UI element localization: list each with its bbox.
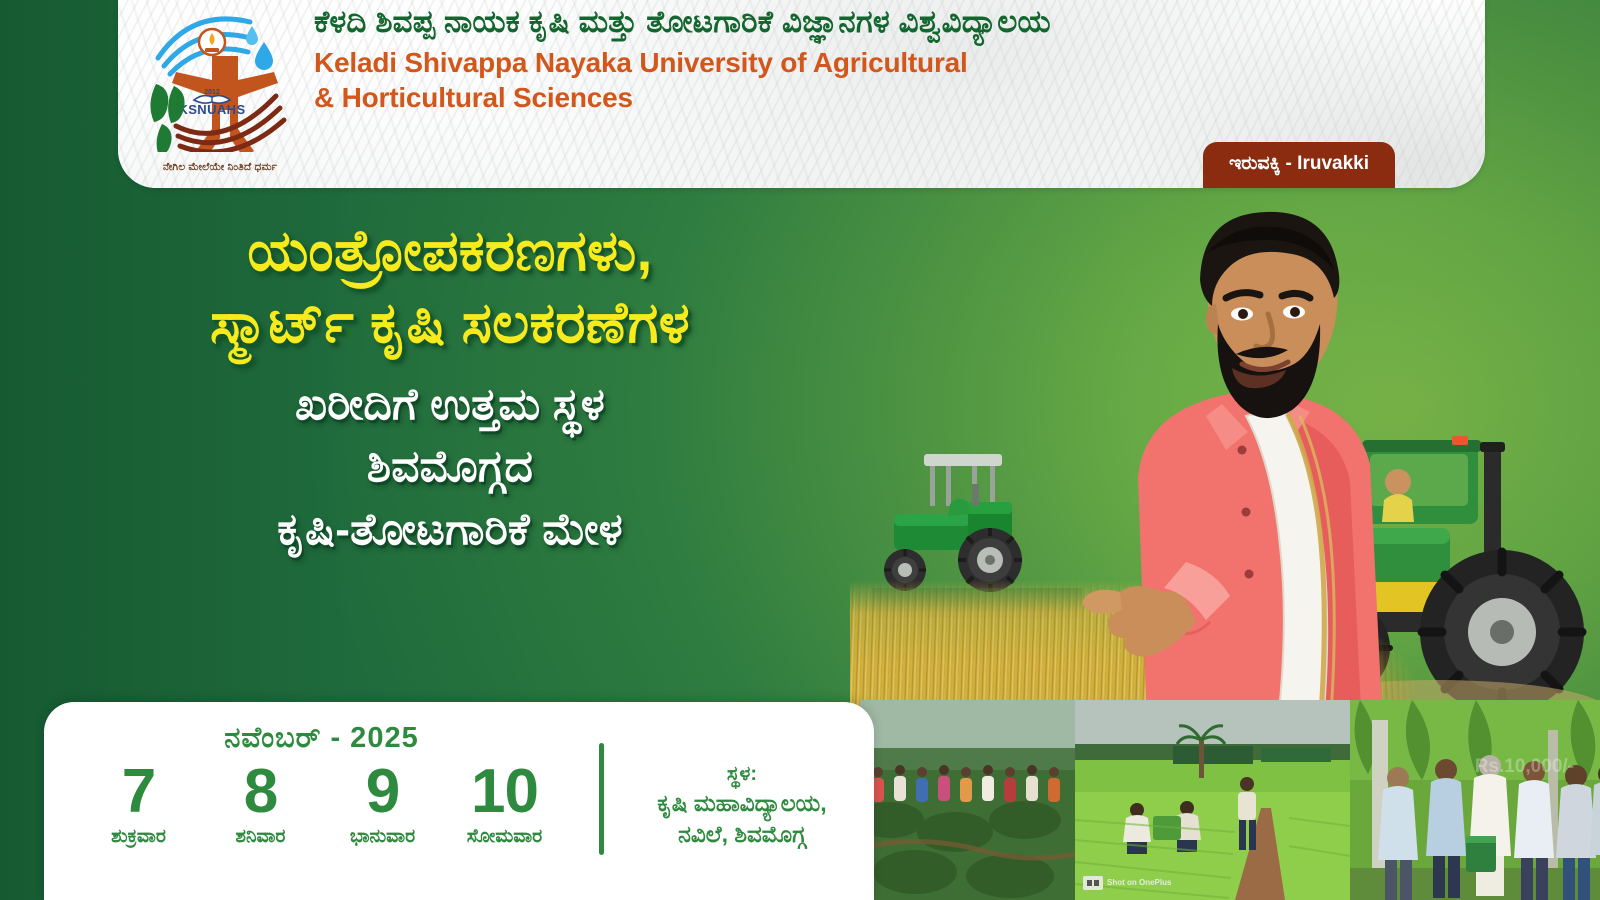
event-day-number: 10 (444, 759, 566, 824)
event-day-weekday: ಭಾನುವಾರ (322, 826, 444, 848)
event-day-number: 9 (322, 759, 444, 824)
headline-white-line2: ಶಿವಮೊಗ್ಗದ (0, 436, 900, 498)
date-section: ನವೆಂಬರ್ - 2025 7 ಶುಕ್ರವಾರ 8 ಶನಿವಾರ 9 ಭಾನ… (44, 702, 599, 900)
venue-section: ಸ್ಥಳ: ಕೃಷಿ ಮಹಾವಿದ್ಯಾಲಯ, ನವಿಲೆ, ಶಿವಮೊಗ್ಗ (610, 702, 874, 900)
event-month-year: ನವೆಂಬರ್ - 2025 (224, 722, 418, 755)
header-panel: 2012 KSNUAHS ನೇಗಿಲ (118, 0, 1485, 188)
event-day: 7 ಶುಕ್ರವಾರ (78, 759, 200, 848)
svg-text:2012: 2012 (204, 89, 220, 96)
event-day-number: 8 (200, 759, 322, 824)
event-day-weekday: ಶುಕ್ರವಾರ (78, 826, 200, 848)
university-name-english: Keladi Shivappa Nayaka University of Agr… (314, 45, 1051, 117)
university-logo: 2012 KSNUAHS ನೇಗಿಲ (140, 2, 300, 178)
event-day-weekday: ಸೋಮವಾರ (444, 826, 566, 848)
venue-line1: ಕೃಷಿ ಮಹಾವಿದ್ಯಾಲಯ, (657, 788, 826, 818)
ksnuahs-emblem-icon: 2012 KSNUAHS (140, 2, 300, 152)
photo-paddy-nursery: Shot on OnePlus (1075, 700, 1350, 900)
headline-yellow-line1: ಯಂತ್ರೋಪಕರಣಗಳು, (0, 216, 900, 288)
venue-line2: ನವಿಲೆ, ಶಿವಮೊಗ್ಗ (678, 819, 806, 849)
poster-canvas: Free entrance arch (0, 0, 1600, 900)
headline-primary: ಯಂತ್ರೋಪಕರಣಗಳು, ಸ್ಮಾರ್ಟ್ ಕೃಷಿ ಸಲಕರಣೆಗಳ (0, 216, 900, 360)
event-day: 9 ಭಾನುವಾರ (322, 759, 444, 848)
university-name-english-line1: Keladi Shivappa Nayaka University of Agr… (314, 47, 968, 78)
event-day: 8 ಶನಿವಾರ (200, 759, 322, 848)
university-title-block: ಕೆಳದಿ ಶಿವಪ್ಪ ನಾಯಕ ಕೃಷಿ ಮತ್ತು ತೋಟಗಾರಿಕೆ ವ… (314, 4, 1051, 116)
venue-label: ಸ್ಥಳ: (727, 763, 757, 786)
headline-block: ಯಂತ್ರೋಪಕರಣಗಳು, ಸ್ಮಾರ್ಟ್ ಕೃಷಿ ಸಲಕರಣೆಗಳ ಖರ… (0, 216, 900, 561)
event-day-weekday: ಶನಿವಾರ (200, 826, 322, 848)
university-name-english-line2: & Horticultural Sciences (314, 80, 1051, 116)
photo-farmers-vegetable-field (860, 700, 1075, 900)
watermark-text: Shot on OnePlus (1107, 879, 1171, 888)
event-date-card: ನವೆಂಬರ್ - 2025 7 ಶುಕ್ರವಾರ 8 ಶನಿವಾರ 9 ಭಾನ… (44, 702, 874, 900)
event-day-number: 7 (78, 759, 200, 824)
card-divider (599, 743, 604, 855)
headline-yellow-line2: ಸ್ಮಾರ್ಟ್ ಕೃಷಿ ಸಲಕರಣೆಗಳ (0, 288, 900, 360)
photo-farmers-group (1350, 700, 1600, 900)
event-days-list: 7 ಶುಕ್ರವಾರ 8 ಶನಿವಾರ 9 ಭಾನುವಾರ 10 ಸೋಮವಾರ (78, 759, 566, 848)
event-day: 10 ಸೋಮವಾರ (444, 759, 566, 848)
headline-secondary: ಖರೀದಿಗೆ ಉತ್ತಮ ಸ್ಥಳ ಶಿವಮೊಗ್ಗದ ಕೃಷಿ-ತೋಟಗಾರ… (0, 374, 900, 561)
photo-watermark: Shot on OnePlus (1107, 879, 1171, 888)
bottom-photo-strip: Shot on OnePlus (860, 700, 1600, 900)
farmer-portrait-image (1036, 194, 1456, 754)
logo-motto: ನೇಗಿಲ ಮೇಲೆಯೇ ನಿಂತಿದೆ ಧರ್ಮ (140, 161, 300, 174)
headline-white-line3: ಕೃಷಿ-ತೋಟಗಾರಿಕೆ ಮೇಳ (0, 499, 900, 561)
university-name-kannada: ಕೆಳದಿ ಶಿವಪ್ಪ ನಾಯಕ ಕೃಷಿ ಮತ್ತು ತೋಟಗಾರಿಕೆ ವ… (314, 4, 1051, 41)
campus-badge: ಇರುವಕ್ಕಿ - Iruvakki (1203, 142, 1395, 188)
svg-text:KSNUAHS: KSNUAHS (178, 102, 245, 117)
headline-white-line1: ಖರೀದಿಗೆ ಉತ್ತಮ ಸ್ಥಳ (0, 374, 900, 436)
